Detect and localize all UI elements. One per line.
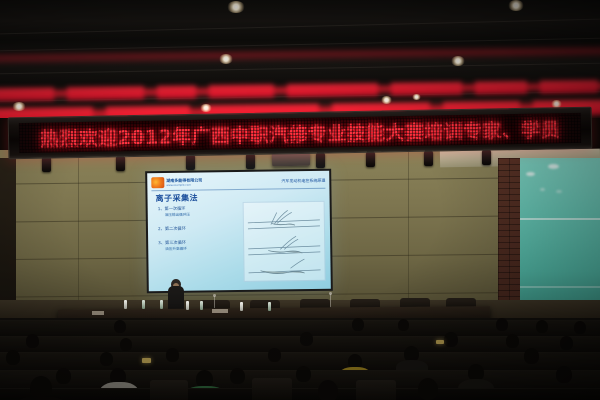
audience-head — [524, 348, 539, 364]
audience-head — [120, 338, 132, 351]
glass-reflection — [556, 190, 562, 193]
left-wall-panel — [0, 158, 16, 303]
audience-head — [300, 332, 313, 346]
water-bottle — [268, 302, 271, 311]
stage-spotlight — [186, 155, 195, 170]
stage-spotlight — [482, 150, 491, 165]
audience-head — [6, 350, 20, 365]
audience-head — [352, 318, 364, 331]
water-bottle — [142, 300, 145, 309]
glass-reflection — [526, 172, 535, 176]
aisle-floor-light — [436, 340, 444, 344]
slide-header-right: 汽车发动机电控系统原理 — [281, 177, 325, 184]
glass-reflection — [548, 164, 559, 169]
ceiling — [0, 0, 600, 118]
audience-head — [398, 319, 409, 331]
documents-on-table — [92, 311, 104, 315]
ceiling-downlight — [451, 56, 465, 66]
company-logo-icon — [151, 177, 164, 188]
audience-head — [556, 366, 572, 383]
stage-spotlight — [316, 153, 325, 168]
stage-spotlight — [116, 156, 125, 171]
audience-head — [444, 332, 458, 347]
audience-head — [166, 348, 179, 362]
ceiling-panel-seam — [0, 19, 600, 35]
ceiling-downlight — [412, 94, 421, 100]
empty-seat — [356, 380, 396, 400]
audience-head — [100, 352, 113, 366]
documents-on-table — [212, 309, 228, 313]
audience-head — [506, 334, 519, 348]
glass-seam — [520, 286, 600, 288]
ceiling-downlight — [200, 104, 212, 112]
water-bottle — [240, 302, 243, 311]
projection-screen: 湖南多能得有限公司 www.example.com 汽车发动机电控系统原理 离子… — [145, 169, 333, 294]
microphone-head — [329, 292, 332, 295]
slide-bullet-sub: 油压升高循环 — [165, 246, 230, 252]
slide-org-name: 湖南多能得有限公司 www.example.com — [166, 178, 202, 188]
seat-row — [0, 388, 600, 400]
stage-spotlight — [424, 151, 433, 166]
ceiling-led-strip — [0, 79, 600, 101]
audience-head — [560, 336, 573, 350]
ceiling-led-strip — [0, 44, 600, 66]
microphone-stand — [330, 294, 331, 307]
slide-bullet-sub — [165, 232, 230, 233]
wall-seam — [78, 150, 79, 325]
audience-head — [26, 334, 39, 348]
slide-figure — [243, 201, 326, 282]
slide-bullet-main: 3、第三次循环 — [158, 239, 230, 246]
ceiling-downlight — [381, 96, 392, 104]
ceiling-downlight — [508, 0, 524, 11]
glass-seam — [520, 218, 600, 220]
audience-head — [268, 348, 281, 362]
audience-head — [536, 320, 548, 333]
water-bottle — [186, 301, 189, 310]
stage-spotlight — [246, 154, 255, 169]
microphone-head — [213, 294, 216, 297]
ceiling-downlight — [227, 1, 245, 13]
stage-spotlight — [366, 152, 375, 167]
water-bottle — [160, 300, 163, 309]
audience-seating — [0, 318, 600, 400]
slide-bullet-main: 1、第一次循环 — [158, 205, 230, 212]
ceiling-downlight — [12, 102, 26, 111]
audience-head — [318, 380, 338, 400]
water-bottle — [200, 301, 203, 310]
slide-content: 湖南多能得有限公司 www.example.com 汽车发动机电控系统原理 离子… — [147, 171, 331, 292]
aisle-floor-light — [142, 358, 151, 363]
banner-text: 热烈欢迎2012年广西中职汽修专业技能大赛培训专家、学员 — [40, 115, 561, 152]
empty-seat — [252, 378, 292, 400]
slide-org-label: 湖南多能得有限公司 — [166, 178, 202, 184]
ceiling-downlight — [219, 54, 233, 64]
audience-head — [114, 320, 126, 333]
empty-seat — [150, 380, 188, 400]
audience-head — [230, 368, 245, 384]
slide-header: 湖南多能得有限公司 www.example.com 汽车发动机电控系统原理 — [151, 174, 325, 189]
audience-head — [418, 378, 438, 400]
glass-reflection — [540, 188, 545, 191]
stage-spotlight — [42, 157, 51, 172]
microphone-stand — [214, 296, 215, 308]
slide-bullet-list: 1、第一次循环 油压输出循环压 2、第二次循环 3、第三次循环 油压升高循环 — [158, 205, 231, 260]
conference-hall-photo: 热烈欢迎2012年广西中职汽修专业技能大赛培训专家、学员 湖南多能得有限公司 w… — [0, 0, 600, 400]
slide-bullet-main: 2、第二次循环 — [158, 225, 230, 232]
slide-bullet-sub: 油压输出循环压 — [165, 212, 230, 218]
audience-head — [296, 366, 311, 382]
spray-pattern-diagram-icon — [244, 202, 325, 281]
audience-head — [574, 321, 586, 334]
slide-title: 离子采集法 — [155, 193, 198, 205]
audience-head — [56, 368, 71, 384]
slide-org-sub: www.example.com — [166, 184, 202, 188]
water-bottle — [124, 300, 127, 309]
audience-head — [496, 318, 508, 331]
